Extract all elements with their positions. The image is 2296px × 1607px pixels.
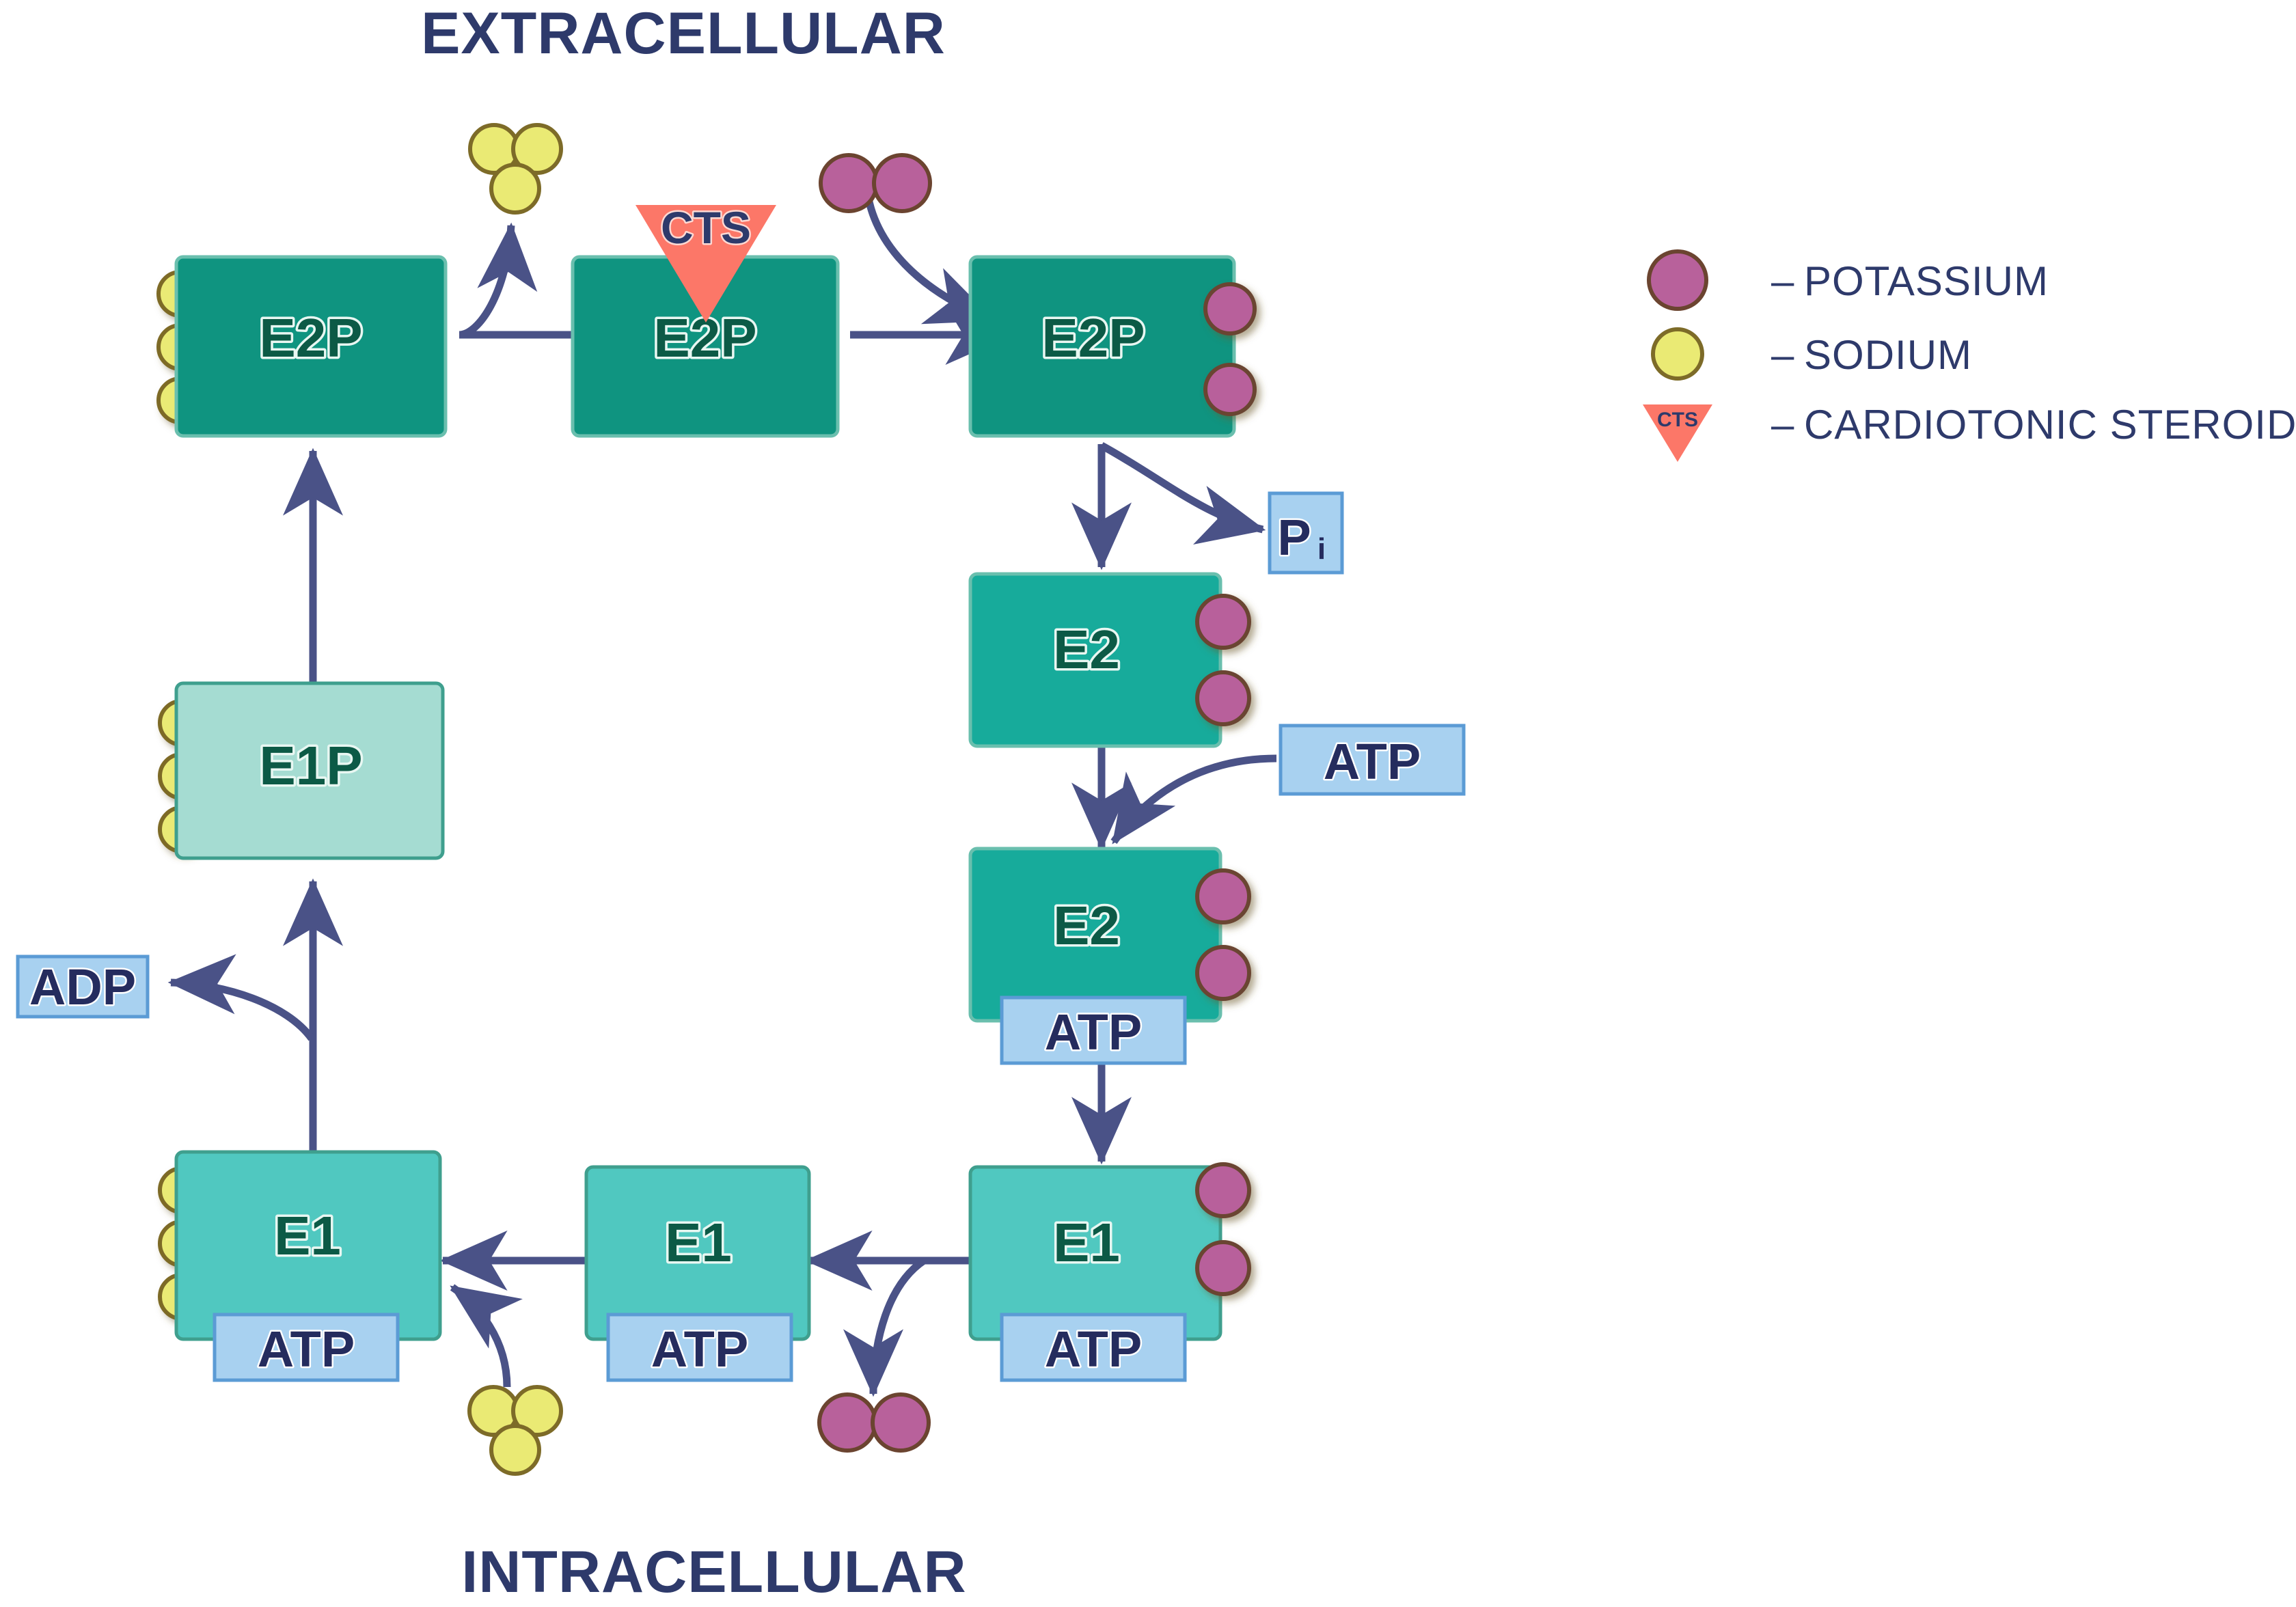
ion-group-sodium-intracellular <box>469 1387 561 1474</box>
ion-group-sodium-extracellular <box>470 125 561 212</box>
legend-dash: – <box>1771 332 1794 378</box>
sodium-icon <box>1653 329 1702 379</box>
state-label: E1 <box>274 1205 341 1266</box>
state-e1-mid[interactable]: E1 ATP <box>586 1167 809 1380</box>
atp-label: ATP <box>1045 1321 1143 1377</box>
arrow-potassium-efflux <box>873 1261 924 1394</box>
ligand-atp-free[interactable]: ATP <box>1281 726 1464 794</box>
potassium-icon <box>874 155 930 211</box>
potassium-icon <box>1197 1164 1249 1216</box>
cts-badge-label: CTS <box>1657 409 1698 431</box>
state-e2p-top-mid[interactable]: E2P CTS <box>573 202 838 436</box>
state-e2-right-upper[interactable]: E2 <box>970 574 1249 746</box>
cts-label: CTS <box>661 202 751 253</box>
legend-label: SODIUM <box>1804 332 1972 378</box>
legend-item-potassium: – POTASSIUM <box>1649 251 2049 309</box>
arrow-adp-release <box>171 983 312 1039</box>
ligand-adp-free[interactable]: ADP <box>18 957 148 1017</box>
state-e1p-left[interactable]: E1P <box>160 683 443 858</box>
arrow-sodium-binding <box>452 1287 507 1387</box>
atp-label: ATP <box>651 1321 749 1377</box>
potassium-icon <box>873 1395 929 1451</box>
legend-label: POTASSIUM <box>1804 258 2049 304</box>
page-title-intracellular: INTRACELLULAR <box>461 1539 966 1605</box>
sodium-icon <box>491 1426 539 1474</box>
potassium-icon <box>1649 251 1706 309</box>
diagram-canvas: EXTRACELLULAR INTRACELLULAR E <box>0 0 2296 1607</box>
state-e1-left[interactable]: E1 ATP <box>160 1152 440 1380</box>
adp-label: ADP <box>29 959 136 1015</box>
state-label: E2 <box>1053 895 1120 956</box>
atp-label: ATP <box>258 1321 355 1377</box>
potassium-icon <box>821 155 877 211</box>
state-label: E1 <box>665 1212 732 1273</box>
ion-group-potassium-intracellular <box>819 1395 929 1451</box>
atp-label: ATP <box>1045 1004 1143 1060</box>
potassium-icon <box>1197 947 1249 999</box>
state-e2-right-lower[interactable]: E2 ATP <box>970 849 1249 1063</box>
state-label: E2P <box>259 307 362 368</box>
legend-label: CARDIOTONIC STEROIDS <box>1804 402 2296 448</box>
ion-group-potassium-extracellular <box>821 155 930 211</box>
sodium-icon <box>491 165 539 212</box>
state-e1-right[interactable]: E1 ATP <box>970 1164 1249 1380</box>
state-e2p-top-left[interactable]: E2P <box>159 257 446 436</box>
state-e2p-top-right[interactable]: E2P <box>970 257 1255 436</box>
state-label: E2 <box>1053 619 1120 680</box>
atp-label: ATP <box>1324 733 1421 790</box>
ligand-phosphate[interactable]: P i <box>1270 493 1342 573</box>
legend-item-sodium: – SODIUM <box>1653 329 1972 379</box>
arrow-atp-binding <box>1114 758 1276 842</box>
state-label: E2P <box>1041 307 1145 368</box>
legend-dash: – <box>1771 402 1794 448</box>
arrow-sodium-efflux <box>459 225 511 335</box>
legend-item-cts: CTS – CARDIOTONIC STEROIDS <box>1643 402 2296 462</box>
potassium-icon <box>1197 672 1249 724</box>
potassium-icon <box>1197 870 1249 922</box>
page-title-extracellular: EXTRACELLULAR <box>421 1 946 66</box>
arrow-pi-release <box>1102 445 1263 530</box>
state-label: E1P <box>259 735 362 796</box>
legend-dash: – <box>1771 258 1794 304</box>
state-label: E1 <box>1053 1212 1120 1273</box>
phosphate-label: P <box>1277 509 1311 566</box>
potassium-icon <box>1205 365 1255 414</box>
phosphate-subscript: i <box>1317 532 1326 566</box>
potassium-icon <box>1205 284 1255 333</box>
potassium-icon <box>1197 596 1249 648</box>
legend: – POTASSIUM – SODIUM CTS – CARDIOTONIC S… <box>1643 251 2296 462</box>
potassium-icon <box>819 1395 875 1451</box>
potassium-icon <box>1197 1242 1249 1294</box>
